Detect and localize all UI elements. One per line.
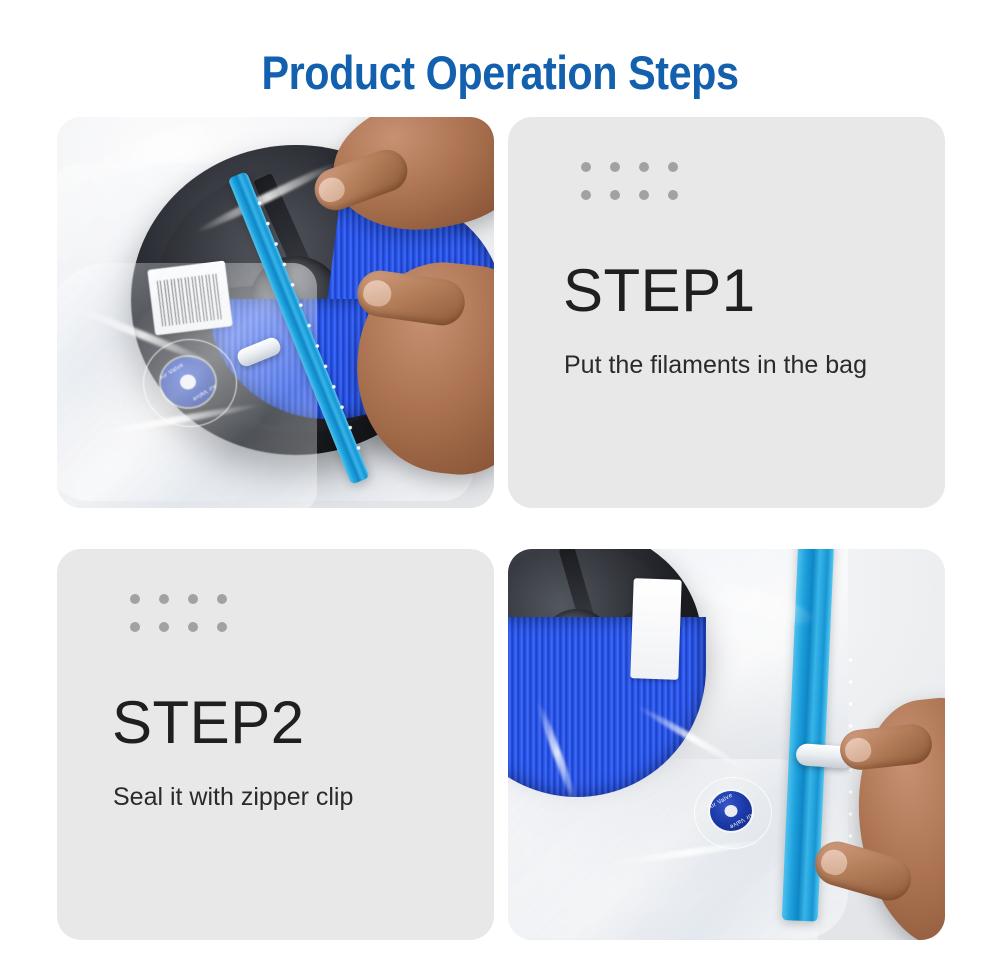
- step2-dot-grid: [130, 594, 227, 632]
- fingernail: [844, 737, 872, 764]
- step2-heading: STEP2: [112, 693, 305, 753]
- decorative-dot: [159, 594, 169, 604]
- step1-text-card: STEP1 Put the filaments in the bag: [508, 117, 945, 508]
- decorative-dot: [668, 190, 678, 200]
- step2-description: Seal it with zipper clip: [113, 775, 493, 819]
- page-title: Product Operation Steps: [60, 45, 940, 100]
- step1-photo-card: Air Valve Air Valve: [57, 117, 494, 508]
- decorative-dot: [217, 594, 227, 604]
- decorative-dot: [188, 594, 198, 604]
- step2-photo-card: Air Valve Air Valve: [508, 549, 945, 940]
- air-valve-outer-ring: [694, 777, 772, 849]
- spool-white-label: [630, 578, 681, 680]
- decorative-dot: [639, 162, 649, 172]
- decorative-dot: [159, 622, 169, 632]
- fingernail: [818, 847, 850, 878]
- decorative-dot: [610, 190, 620, 200]
- decorative-dot: [130, 594, 140, 604]
- step1-photo: Air Valve Air Valve: [57, 117, 494, 508]
- step2-photo: Air Valve Air Valve: [508, 549, 945, 940]
- steps-grid: Air Valve Air Valve: [57, 117, 945, 940]
- decorative-dot: [581, 190, 591, 200]
- decorative-dot: [188, 622, 198, 632]
- step1-heading: STEP1: [563, 261, 756, 321]
- decorative-dot: [217, 622, 227, 632]
- fingernail: [362, 278, 393, 308]
- step1-description: Put the filaments in the bag: [564, 343, 904, 387]
- decorative-dot: [130, 622, 140, 632]
- fingernail: [315, 174, 348, 205]
- step2-text-card: STEP2 Seal it with zipper clip: [57, 549, 494, 940]
- decorative-dot: [610, 162, 620, 172]
- decorative-dot: [581, 162, 591, 172]
- decorative-dot: [668, 162, 678, 172]
- decorative-dot: [639, 190, 649, 200]
- step1-dot-grid: [581, 162, 678, 200]
